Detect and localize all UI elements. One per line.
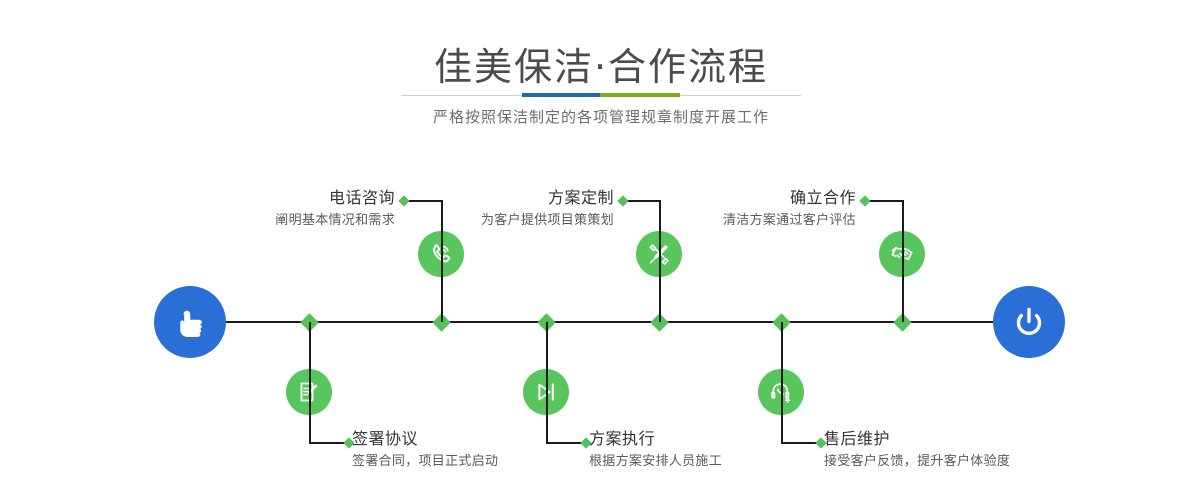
divider-line-right <box>680 95 801 96</box>
title-divider <box>401 93 801 97</box>
connector-vertical <box>546 322 548 442</box>
label-step-6: 售后维护 接受客户反馈，提升客户体验度 <box>824 428 1184 472</box>
connector-horizontal <box>546 442 584 444</box>
connector-horizontal <box>309 442 347 444</box>
divider-segment-blue <box>522 93 600 97</box>
connector-tip-diamond <box>859 195 870 206</box>
label-desc: 清洁方案通过客户评估 <box>530 211 856 231</box>
flow-end-node[interactable] <box>993 286 1065 358</box>
connector-vertical <box>309 322 311 442</box>
flow-diagram: 佳美保洁·合作流程 严格按照保洁制定的各项管理规章制度开展工作 <box>0 0 1202 502</box>
label-title: 确立合作 <box>530 187 856 209</box>
power-icon <box>1009 302 1049 342</box>
divider-line-left <box>401 95 522 96</box>
connector-vertical <box>781 322 783 442</box>
page-title: 佳美保洁·合作流程 <box>0 36 1202 91</box>
divider-segment-green <box>600 93 680 97</box>
pointing-hand-icon <box>170 302 210 342</box>
flow-start-node[interactable] <box>154 286 226 358</box>
label-desc: 接受客户反馈，提升客户体验度 <box>824 452 1184 472</box>
page-subtitle: 严格按照保洁制定的各项管理规章制度开展工作 <box>0 106 1202 127</box>
connector-horizontal <box>781 442 819 444</box>
label-step-5: 确立合作 清洁方案通过客户评估 <box>530 187 856 231</box>
label-title: 售后维护 <box>824 428 1184 450</box>
connector-vertical <box>902 200 904 322</box>
